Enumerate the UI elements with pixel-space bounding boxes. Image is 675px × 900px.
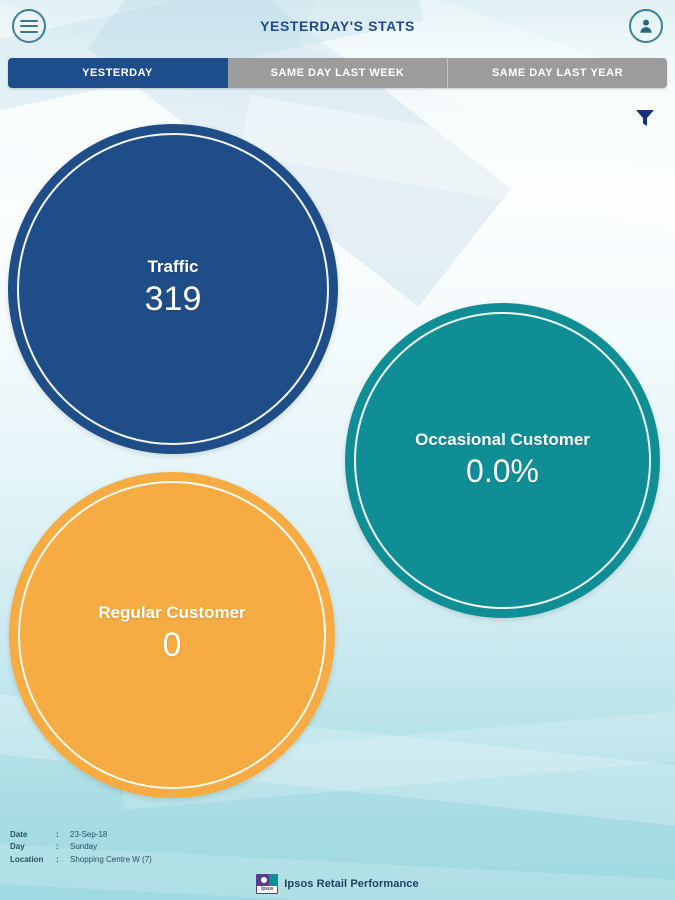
info-label-day: Day	[10, 841, 56, 853]
info-value-location: Shopping Centre W (7)	[70, 854, 152, 866]
user-profile-icon[interactable]	[629, 9, 663, 43]
info-row-location: Location : Shopping Centre W (7)	[10, 854, 152, 866]
info-row-day: Day : Sunday	[10, 841, 152, 853]
tab-same-day-last-year[interactable]: SAME DAY LAST YEAR	[448, 58, 667, 88]
info-label-location: Location	[10, 854, 56, 866]
metric-label: Traffic	[147, 257, 198, 277]
info-colon: :	[56, 829, 70, 841]
info-value-date: 23-Sep-18	[70, 829, 107, 841]
info-label-date: Date	[10, 829, 56, 841]
info-row-date: Date : 23-Sep-18	[10, 829, 152, 841]
tab-yesterday[interactable]: YESTERDAY	[8, 58, 228, 88]
app-root: YESTERDAY'S STATS YESTERDAY SAME DAY LAS…	[0, 0, 675, 900]
ipsos-logo-word: Ipsos	[257, 886, 277, 893]
info-value-day: Sunday	[70, 841, 97, 853]
period-tab-bar: YESTERDAY SAME DAY LAST WEEK SAME DAY LA…	[8, 58, 667, 88]
funnel-glyph	[633, 106, 657, 130]
hamburger-menu-icon[interactable]	[12, 9, 46, 43]
info-colon: :	[56, 854, 70, 866]
report-context-info: Date : 23-Sep-18 Day : Sunday Location :…	[10, 829, 152, 866]
metric-value: 0.0%	[466, 451, 539, 491]
ipsos-logo-icon: Ipsos	[256, 874, 278, 894]
metric-label: Regular Customer	[98, 603, 245, 623]
app-header: YESTERDAY'S STATS	[0, 0, 675, 52]
page-title: YESTERDAY'S STATS	[46, 18, 629, 34]
brand-name: Ipsos Retail Performance	[284, 878, 418, 890]
hamburger-lines	[20, 20, 38, 33]
tab-same-day-last-week[interactable]: SAME DAY LAST WEEK	[228, 58, 448, 88]
user-glyph	[637, 17, 655, 35]
metric-value: 319	[145, 278, 202, 321]
metric-bubble-occasional-customer[interactable]: Occasional Customer 0.0%	[345, 303, 660, 618]
metric-bubble-traffic[interactable]: Traffic 319	[8, 124, 338, 454]
metric-bubble-regular-customer[interactable]: Regular Customer 0	[9, 472, 335, 798]
metric-label: Occasional Customer	[415, 430, 590, 450]
filter-funnel-icon[interactable]	[633, 106, 657, 130]
brand-footer: Ipsos Ipsos Retail Performance	[0, 874, 675, 894]
metric-value: 0	[163, 624, 182, 667]
info-colon: :	[56, 841, 70, 853]
